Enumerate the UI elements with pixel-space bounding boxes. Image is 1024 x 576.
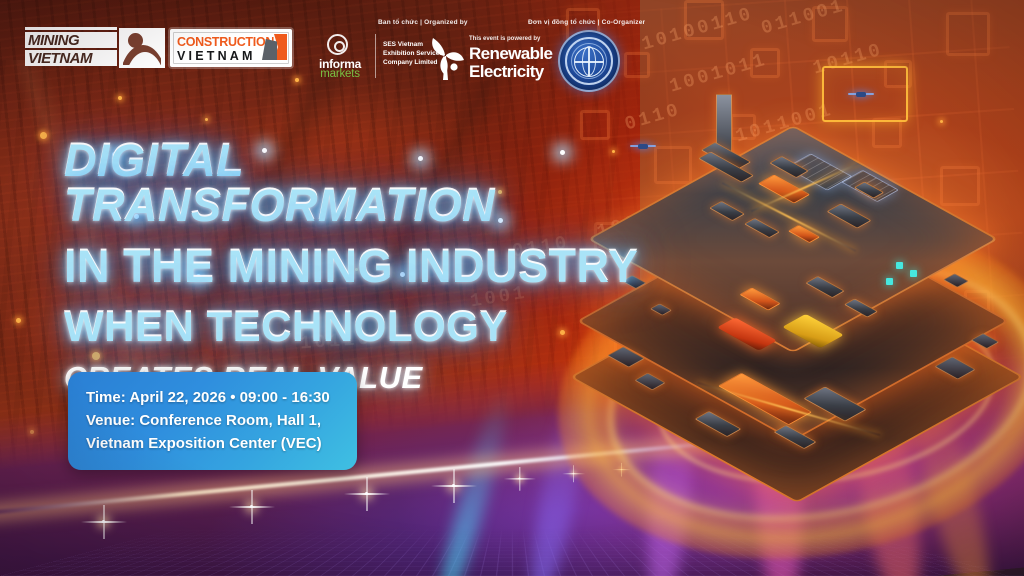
headline-line-2: IN THE MINING INDUSTRY [64,244,644,289]
data-indicator [886,278,893,285]
headline-line-1: DIGITAL TRANSFORMATION [64,138,644,228]
construction-vietnam-label: VIETNAM [177,49,256,63]
co-organizer-label: Đơn vị đồng tổ chức | Co-Organizer [528,19,645,26]
event-venue-line-2: Vietnam Exposition Center (VEC) [86,432,339,455]
vietnam-label: VIETNAM [28,50,92,67]
logo-informa-markets[interactable]: informa markets [310,34,370,82]
event-details-box: Time: April 22, 2026 • 09:00 - 16:30 Ven… [68,372,357,470]
powered-by-label: This event is powered by [469,36,540,42]
headline-block: DIGITAL TRANSFORMATION IN THE MINING IND… [64,138,644,393]
markets-label: markets [310,68,370,80]
renewable-label: Renewable [469,44,552,64]
globe-seal-icon[interactable] [558,30,620,92]
data-indicator [910,270,917,277]
mining-vietnam-wordmark: MINING VIETNAM [25,27,117,69]
organized-by-label: Ban tổ chức | Organized by [378,19,468,26]
miner-portrait-icon [119,28,165,68]
data-indicator [896,262,903,269]
logo-construction-vietnam[interactable]: CONSTRUCTION VIETNAM [170,29,292,67]
logo-bar: MINING VIETNAM CONSTRUCTION VIETNAM Ban … [0,0,1024,100]
isometric-mine-stack [596,56,1024,476]
wind-turbine-icon [425,34,465,82]
electricity-label: Electricity [469,62,544,82]
smart-mine-illustration [596,56,1024,506]
logo-divider [375,34,376,78]
logo-mining-vietnam[interactable]: MINING VIETNAM [25,27,165,69]
event-venue-line-1: Venue: Conference Room, Hall 1, [86,409,339,432]
headline-line-3: WHEN TECHNOLOGY [64,306,644,348]
logo-renewable-electricity[interactable]: This event is powered by Renewable Elect… [425,30,535,86]
building-icon [257,34,287,61]
mining-label: MINING [28,32,79,49]
event-time: Time: April 22, 2026 • 09:00 - 16:30 [86,386,339,409]
informa-ring-icon [327,34,348,55]
event-banner: 10100110 011001 1001011 10110 0110 10110… [0,0,1024,576]
